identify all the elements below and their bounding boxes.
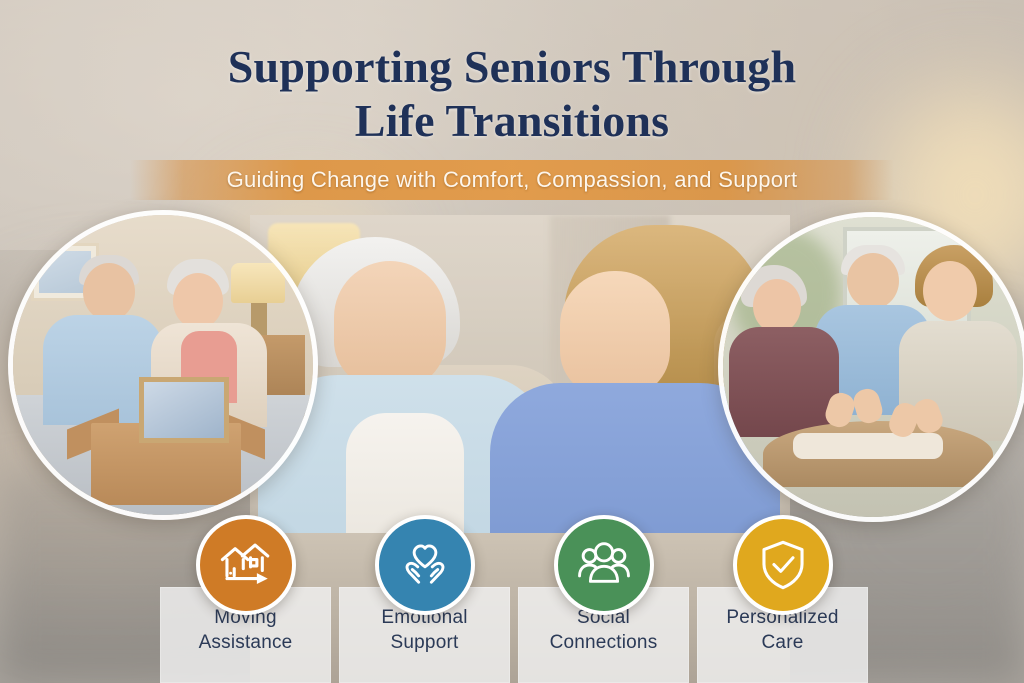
title-line-1: Supporting Seniors Through xyxy=(228,41,797,92)
senior-woman-face xyxy=(173,273,223,329)
poster-canvas: Supporting Seniors Through Life Transiti… xyxy=(0,0,1024,683)
bedside-lamp xyxy=(231,263,285,303)
feature-label-line-2: Care xyxy=(726,630,838,655)
page-title: Supporting Seniors Through Life Transiti… xyxy=(0,40,1024,148)
feature-card-row: Moving Assistance Emotional Support xyxy=(160,587,868,683)
people-group-icon xyxy=(554,515,654,615)
subtitle-band: Guiding Change with Comfort, Compassion,… xyxy=(130,160,894,200)
feature-label-line-2: Support xyxy=(381,630,467,655)
shield-check-icon xyxy=(733,515,833,615)
photo-left-circle xyxy=(8,210,318,520)
feature-card-social-connections[interactable]: Social Connections xyxy=(518,587,689,683)
younger-woman-face xyxy=(923,261,977,321)
feature-card-moving-assistance[interactable]: Moving Assistance xyxy=(160,587,331,683)
title-line-2: Life Transitions xyxy=(0,94,1024,148)
heart-in-hands-icon xyxy=(375,515,475,615)
senior-man-face xyxy=(847,253,899,309)
feature-label-line-2: Assistance xyxy=(199,630,293,655)
senior-woman-top xyxy=(729,327,839,437)
senior-man-face xyxy=(83,263,135,321)
framed-photograph xyxy=(139,377,229,443)
feature-label-line-2: Connections xyxy=(550,630,658,655)
subtitle-text: Guiding Change with Comfort, Compassion,… xyxy=(227,167,798,193)
feature-card-emotional-support[interactable]: Emotional Support xyxy=(339,587,510,683)
photo-right-circle xyxy=(718,212,1024,522)
feature-card-personalized-care[interactable]: Personalized Care xyxy=(697,587,868,683)
house-move-arrow-icon xyxy=(196,515,296,615)
table-setting xyxy=(793,433,943,459)
senior-woman-face xyxy=(753,279,801,333)
